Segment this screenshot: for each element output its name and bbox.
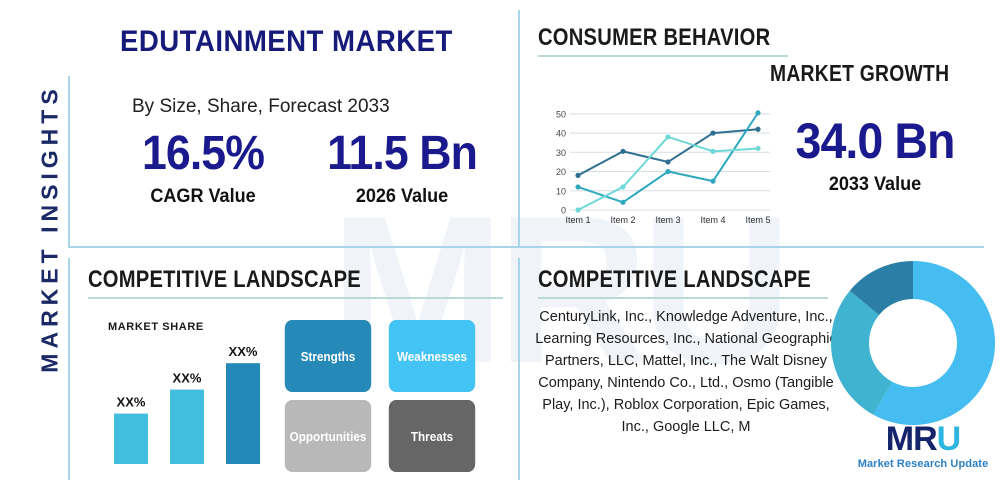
heading-market-growth: MARKET GROWTH bbox=[770, 60, 949, 87]
divider-center-top bbox=[518, 10, 520, 246]
logo-mark-u: U bbox=[937, 420, 961, 458]
stat-cagr-label: CAGR Value bbox=[113, 186, 294, 208]
line-chart-consumer-behavior: 01020304050 Item 1Item 2Item 3Item 4Item… bbox=[544, 104, 776, 230]
heading-competitive-left-wrap: COMPETITIVE LANDSCAPE bbox=[88, 266, 503, 299]
stat-2026-value: 11.5 Bn bbox=[309, 130, 495, 178]
line-chart-series bbox=[575, 110, 760, 212]
swot-cell-strengths[interactable]: Strengths bbox=[285, 320, 371, 392]
divider-left-top bbox=[68, 76, 70, 246]
heading-rule bbox=[538, 55, 788, 57]
page-title: EDUTAINMENT MARKET bbox=[120, 25, 453, 59]
panel-consumer-behavior: CONSUMER BEHAVIOR MARKET GROWTH 01020304… bbox=[530, 8, 990, 244]
company-list: CenturyLink, Inc., Knowledge Adventure, … bbox=[530, 306, 842, 438]
donut-chart-slices bbox=[831, 261, 995, 425]
svg-text:0: 0 bbox=[561, 206, 566, 216]
side-label-market-insights: MARKET INSIGHTS bbox=[37, 9, 64, 449]
svg-text:20: 20 bbox=[556, 167, 566, 177]
line-chart-x-ticks: Item 1Item 2Item 3Item 4Item 5 bbox=[565, 215, 770, 225]
logo-mark-mr: MR bbox=[886, 420, 937, 458]
bar-chart-market-share: XX%XX%XX% bbox=[98, 318, 288, 468]
swot-label-strengths: Strengths bbox=[301, 349, 356, 364]
heading-competitive-right-wrap: COMPETITIVE LANDSCAPE bbox=[538, 266, 828, 299]
svg-text:Item 4: Item 4 bbox=[700, 215, 725, 225]
panel-competitive-landscape-right: COMPETITIVE LANDSCAPE CenturyLink, Inc.,… bbox=[530, 258, 990, 486]
page-subtitle: By Size, Share, Forecast 2033 bbox=[132, 96, 390, 118]
svg-text:50: 50 bbox=[556, 109, 566, 119]
logo-mark: MRU bbox=[886, 422, 960, 456]
stat-cagr-value: 16.5% bbox=[115, 130, 292, 178]
svg-text:30: 30 bbox=[556, 148, 566, 158]
heading-consumer-behavior: CONSUMER BEHAVIOR bbox=[538, 24, 748, 52]
svg-text:XX%: XX% bbox=[229, 344, 258, 359]
stat-2033-label: 2033 Value bbox=[766, 174, 985, 196]
logo-market-research-update: MRU Market Research Update bbox=[848, 422, 998, 470]
svg-text:Item 3: Item 3 bbox=[655, 215, 680, 225]
line-chart-y-ticks: 01020304050 bbox=[556, 109, 566, 215]
svg-text:XX%: XX% bbox=[117, 395, 146, 410]
swot-label-threats: Threats bbox=[411, 429, 453, 444]
stat-2026-label: 2026 Value bbox=[307, 186, 497, 208]
heading-rule bbox=[538, 297, 828, 299]
swot-grid: Strengths Weaknesses Opportunities Threa… bbox=[280, 320, 480, 472]
svg-text:Item 2: Item 2 bbox=[610, 215, 635, 225]
panel-competitive-landscape-left: COMPETITIVE LANDSCAPE MARKET SHARE XX%XX… bbox=[80, 258, 510, 486]
divider-horizontal bbox=[68, 246, 984, 248]
stat-2033-value: 34.0 Bn bbox=[768, 116, 982, 166]
stat-2033: 34.0 Bn 2033 Value bbox=[760, 116, 990, 196]
donut-chart-market-share bbox=[828, 258, 998, 428]
heading-competitive-left: COMPETITIVE LANDSCAPE bbox=[88, 266, 437, 294]
svg-text:40: 40 bbox=[556, 129, 566, 139]
logo-subtitle: Market Research Update bbox=[848, 458, 998, 470]
heading-competitive-right: COMPETITIVE LANDSCAPE bbox=[538, 266, 782, 294]
divider-left-bottom bbox=[68, 258, 70, 480]
swot-cell-opportunities[interactable]: Opportunities bbox=[285, 400, 371, 472]
svg-text:XX%: XX% bbox=[173, 371, 202, 386]
swot-label-opportunities: Opportunities bbox=[290, 429, 367, 444]
stat-cagr: 16.5% CAGR Value bbox=[108, 130, 298, 208]
stat-2026: 11.5 Bn 2026 Value bbox=[302, 130, 502, 208]
heading-consumer-behavior-wrap: CONSUMER BEHAVIOR bbox=[538, 24, 788, 57]
divider-center-bottom bbox=[518, 258, 520, 480]
svg-text:Item 1: Item 1 bbox=[565, 215, 590, 225]
svg-text:10: 10 bbox=[556, 186, 566, 196]
swot-cell-threats[interactable]: Threats bbox=[389, 400, 475, 472]
panel-market-overview: EDUTAINMENT MARKET By Size, Share, Forec… bbox=[80, 8, 510, 244]
swot-label-weaknesses: Weaknesses bbox=[397, 349, 467, 364]
heading-rule bbox=[88, 297, 503, 299]
swot-cell-weaknesses[interactable]: Weaknesses bbox=[389, 320, 475, 392]
svg-text:Item 5: Item 5 bbox=[745, 215, 770, 225]
